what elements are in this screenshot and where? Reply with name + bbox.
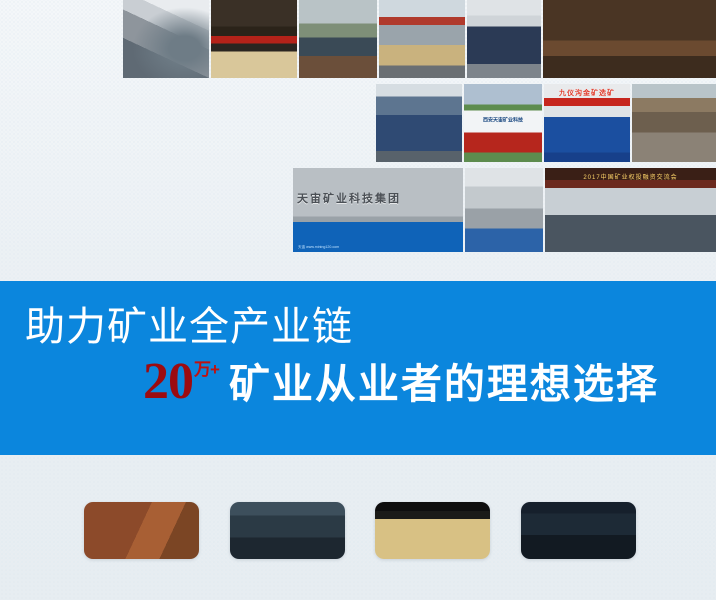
lab-photo — [123, 0, 209, 78]
ceremony-photo — [211, 0, 297, 78]
technicians-photo — [467, 0, 541, 78]
company-sign-text: 天宙矿业科技集团 — [297, 190, 401, 206]
banner-headline: 助力矿业全产业链 — [25, 307, 353, 347]
photo-card — [375, 502, 490, 559]
banner-subheadline: 20 万+ 矿业从业者的理想选择 — [143, 357, 659, 406]
banner-count-number: 20 — [143, 357, 193, 406]
mine-sign-text: 九仪沟金矿选矿 — [559, 88, 615, 98]
blue-uniform-team-photo — [376, 84, 462, 162]
smelter-worker-photo — [521, 502, 636, 559]
collage-photo — [543, 0, 716, 78]
collage-photo — [211, 0, 297, 78]
page-background: 西安天宙矿业科技 九仪沟金矿选矿 天宙矿业科技集团 天宙 www.mining1… — [0, 0, 716, 600]
collage-photo: 西安天宙矿业科技 — [464, 84, 542, 162]
mountain-team-photo — [299, 0, 377, 78]
collage-photo — [299, 0, 377, 78]
photo-card — [84, 502, 199, 559]
miner-portrait-photo — [230, 502, 345, 559]
collage-photo — [376, 84, 462, 162]
bottom-photo-strip — [0, 455, 716, 600]
collage-photo: 2017中国矿业权投融资交流会 — [545, 168, 716, 252]
promo-banner: 助力矿业全产业链 20 万+ 矿业从业者的理想选择 — [0, 281, 716, 455]
banner-tagline: 矿业从业者的理想选择 — [229, 364, 659, 405]
photo-card — [230, 502, 345, 559]
executive-photo — [543, 0, 716, 78]
conference-banner-text: 2017中国矿业权投融资交流会 — [583, 172, 677, 181]
photo-card — [521, 502, 636, 559]
event-banner-text: 西安天宙矿业科技 — [483, 116, 523, 123]
collage-photo — [467, 0, 541, 78]
collage-photo — [123, 0, 209, 78]
van-crew-photo — [632, 84, 716, 162]
collage-photo: 九仪沟金矿选矿 — [544, 84, 630, 162]
collage-photo — [632, 84, 716, 162]
banner-count-unit: 万+ — [194, 361, 219, 378]
company-sign-subtext: 天宙 www.mining120.com — [298, 245, 339, 249]
photo-collage: 西安天宙矿业科技 九仪沟金矿选矿 天宙矿业科技集团 天宙 www.mining1… — [0, 0, 716, 258]
collage-photo: 天宙矿业科技集团 天宙 www.mining120.com — [293, 168, 463, 252]
collage-photo — [465, 168, 543, 252]
flotation-plant-photo — [379, 0, 465, 78]
geologist-photo — [84, 502, 199, 559]
lab-pouring-photo — [465, 168, 543, 252]
collage-photo — [379, 0, 465, 78]
red-helmet-workers-photo — [375, 502, 490, 559]
headquarters-signage-photo — [293, 168, 463, 252]
